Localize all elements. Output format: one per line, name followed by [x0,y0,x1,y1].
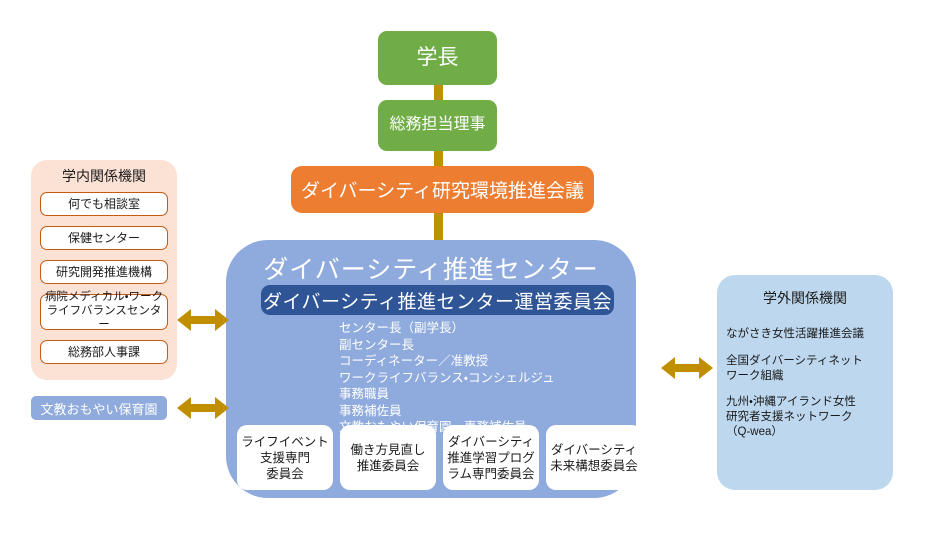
internal-org-label-1: 何でも相談室 [68,197,140,211]
internal-org-label-5: 総務部人事課 [68,345,140,359]
nursery-label: 文教おもやい保育園 [40,399,157,418]
council-label: ダイバーシティ研究環境推進会議 [301,176,584,203]
sub-committee-box-3: ダイバーシティ 推進学習プログ ラム専門委員会 [443,425,539,490]
box-president: 学長 [378,31,497,85]
committee-bar: ダイバーシティ推進センター運営委員会 [261,285,614,315]
sub-committee-box-1: ライフイベント 支援専門 委員会 [237,425,333,490]
sub-committee-label-3: ダイバーシティ 推進学習プログ ラム専門委員会 [447,434,535,482]
internal-org-item-2: 保健センター [40,226,168,250]
sub-committee-label-4: ダイバーシティ 未来構想委員会 [550,442,638,474]
nursery-box: 文教おもやい保育園 [31,396,167,420]
internal-org-label-3: 研究開発推進機構 [56,265,152,279]
org-chart-diagram: 学長 総務担当理事 ダイバーシティ研究環境推進会議 ダイバーシティ推進センター … [0,0,950,537]
internal-org-item-5: 総務部人事課 [40,340,168,364]
internal-org-item-3: 研究開発推進機構 [40,260,168,284]
staff-list: センター長（副学長） 副センター長 コーディネーター／准教授 ワークライフバラン… [339,320,629,436]
external-org-item-2: 全国ダイバーシティネット ワーク組織 [726,354,891,384]
internal-org-label-2: 保健センター [68,231,140,245]
sub-committee-box-2: 働き方見直し 推進委員会 [340,425,436,490]
external-org-item-3: 九州・沖縄アイランド女性 研究者支援ネットワーク （Q-wea） [726,395,891,440]
sub-committee-label-1: ライフイベント 支援専門 委員会 [241,434,329,482]
box-council: ダイバーシティ研究環境推進会議 [291,166,594,213]
president-label: 学長 [417,46,459,70]
center-title: ダイバーシティ推進センター [226,250,636,286]
external-org-item-1: ながさき女性活躍推進会議 [726,327,891,342]
internal-orgs-title: 学内関係機関 [31,166,177,186]
external-orgs-title: 学外関係機関 [717,288,893,308]
director-label: 総務担当理事 [389,116,485,134]
arrow-internal-to-center [177,306,229,334]
sub-committee-label-2: 働き方見直し 推進委員会 [350,442,425,474]
box-director: 総務担当理事 [378,100,497,151]
arrow-nursery-to-center [177,394,229,422]
arrow-center-to-external [661,354,713,382]
internal-org-item-1: 何でも相談室 [40,192,168,216]
committee-bar-label: ダイバーシティ推進センター運営委員会 [263,287,612,314]
internal-org-label-4: 病院メディカル・ワーク ライフバランスセンター [41,291,167,332]
connector-council-center [434,210,443,244]
sub-committee-box-4: ダイバーシティ 未来構想委員会 [546,425,642,490]
internal-org-item-4: 病院メディカル・ワーク ライフバランスセンター [40,294,168,330]
